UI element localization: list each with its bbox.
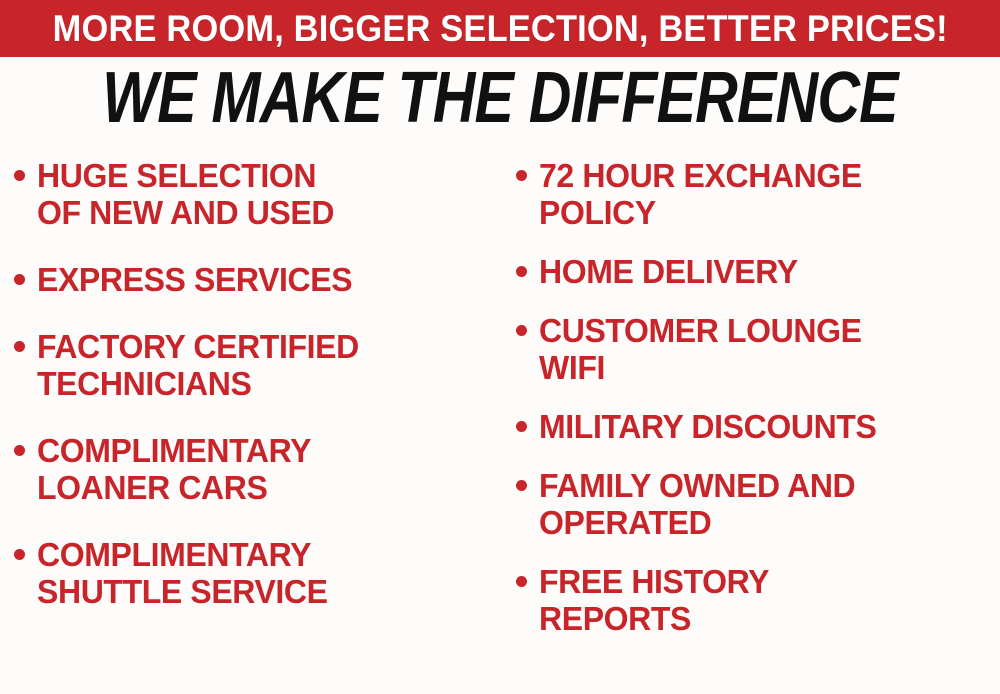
list-item-label: EXPRESS SERVICES [37, 262, 492, 299]
top-banner: MORE ROOM, BIGGER SELECTION, BETTER PRIC… [0, 0, 1000, 57]
list-item-label: HOME DELIVERY [539, 254, 992, 291]
bullet-dot-icon [14, 549, 25, 560]
list-item: EXPRESS SERVICES [14, 262, 506, 299]
list-item: HOME DELIVERY [516, 254, 1000, 291]
benefits-column-right: 72 HOUR EXCHANGE POLICY HOME DELIVERY CU… [516, 158, 1000, 660]
list-item: MILITARY DISCOUNTS [516, 409, 1000, 446]
bullet-dot-icon [14, 445, 25, 456]
list-item-label: MILITARY DISCOUNTS [539, 409, 992, 446]
bullet-dot-icon [14, 274, 25, 285]
list-item: COMPLIMENTARY SHUTTLE SERVICE [14, 537, 506, 611]
bullet-dot-icon [516, 170, 527, 181]
list-item-label: COMPLIMENTARY LOANER CARS [37, 433, 492, 507]
bullet-dot-icon [14, 341, 25, 352]
bullet-dot-icon [516, 325, 527, 336]
bullet-dot-icon [516, 421, 527, 432]
list-item-label: FAMILY OWNED AND OPERATED [539, 468, 992, 542]
list-item-label: FACTORY CERTIFIED TECHNICIANS [37, 329, 492, 403]
list-item-label: HUGE SELECTION OF NEW AND USED [37, 158, 492, 232]
list-item: FACTORY CERTIFIED TECHNICIANS [14, 329, 506, 403]
list-item-label: COMPLIMENTARY SHUTTLE SERVICE [37, 537, 492, 611]
list-item: HUGE SELECTION OF NEW AND USED [14, 158, 506, 232]
bullet-dot-icon [516, 266, 527, 277]
benefits-column-left: HUGE SELECTION OF NEW AND USED EXPRESS S… [14, 158, 506, 641]
page-title: WE MAKE THE DIFFERENCE [0, 62, 1000, 135]
list-item-label: CUSTOMER LOUNGE WIFI [539, 313, 992, 387]
benefits-columns: HUGE SELECTION OF NEW AND USED EXPRESS S… [0, 158, 1000, 694]
list-item: CUSTOMER LOUNGE WIFI [516, 313, 1000, 387]
list-item-label: FREE HISTORY REPORTS [539, 564, 992, 638]
page-title-text: WE MAKE THE DIFFERENCE [102, 62, 897, 135]
list-item: FAMILY OWNED AND OPERATED [516, 468, 1000, 542]
dealership-benefits-poster: MORE ROOM, BIGGER SELECTION, BETTER PRIC… [0, 0, 1000, 694]
banner-headline-text: MORE ROOM, BIGGER SELECTION, BETTER PRIC… [52, 10, 947, 47]
bullet-dot-icon [516, 480, 527, 491]
list-item-label: 72 HOUR EXCHANGE POLICY [539, 158, 992, 232]
list-item: 72 HOUR EXCHANGE POLICY [516, 158, 1000, 232]
bullet-dot-icon [516, 576, 527, 587]
bullet-dot-icon [14, 170, 25, 181]
list-item: COMPLIMENTARY LOANER CARS [14, 433, 506, 507]
list-item: FREE HISTORY REPORTS [516, 564, 1000, 638]
